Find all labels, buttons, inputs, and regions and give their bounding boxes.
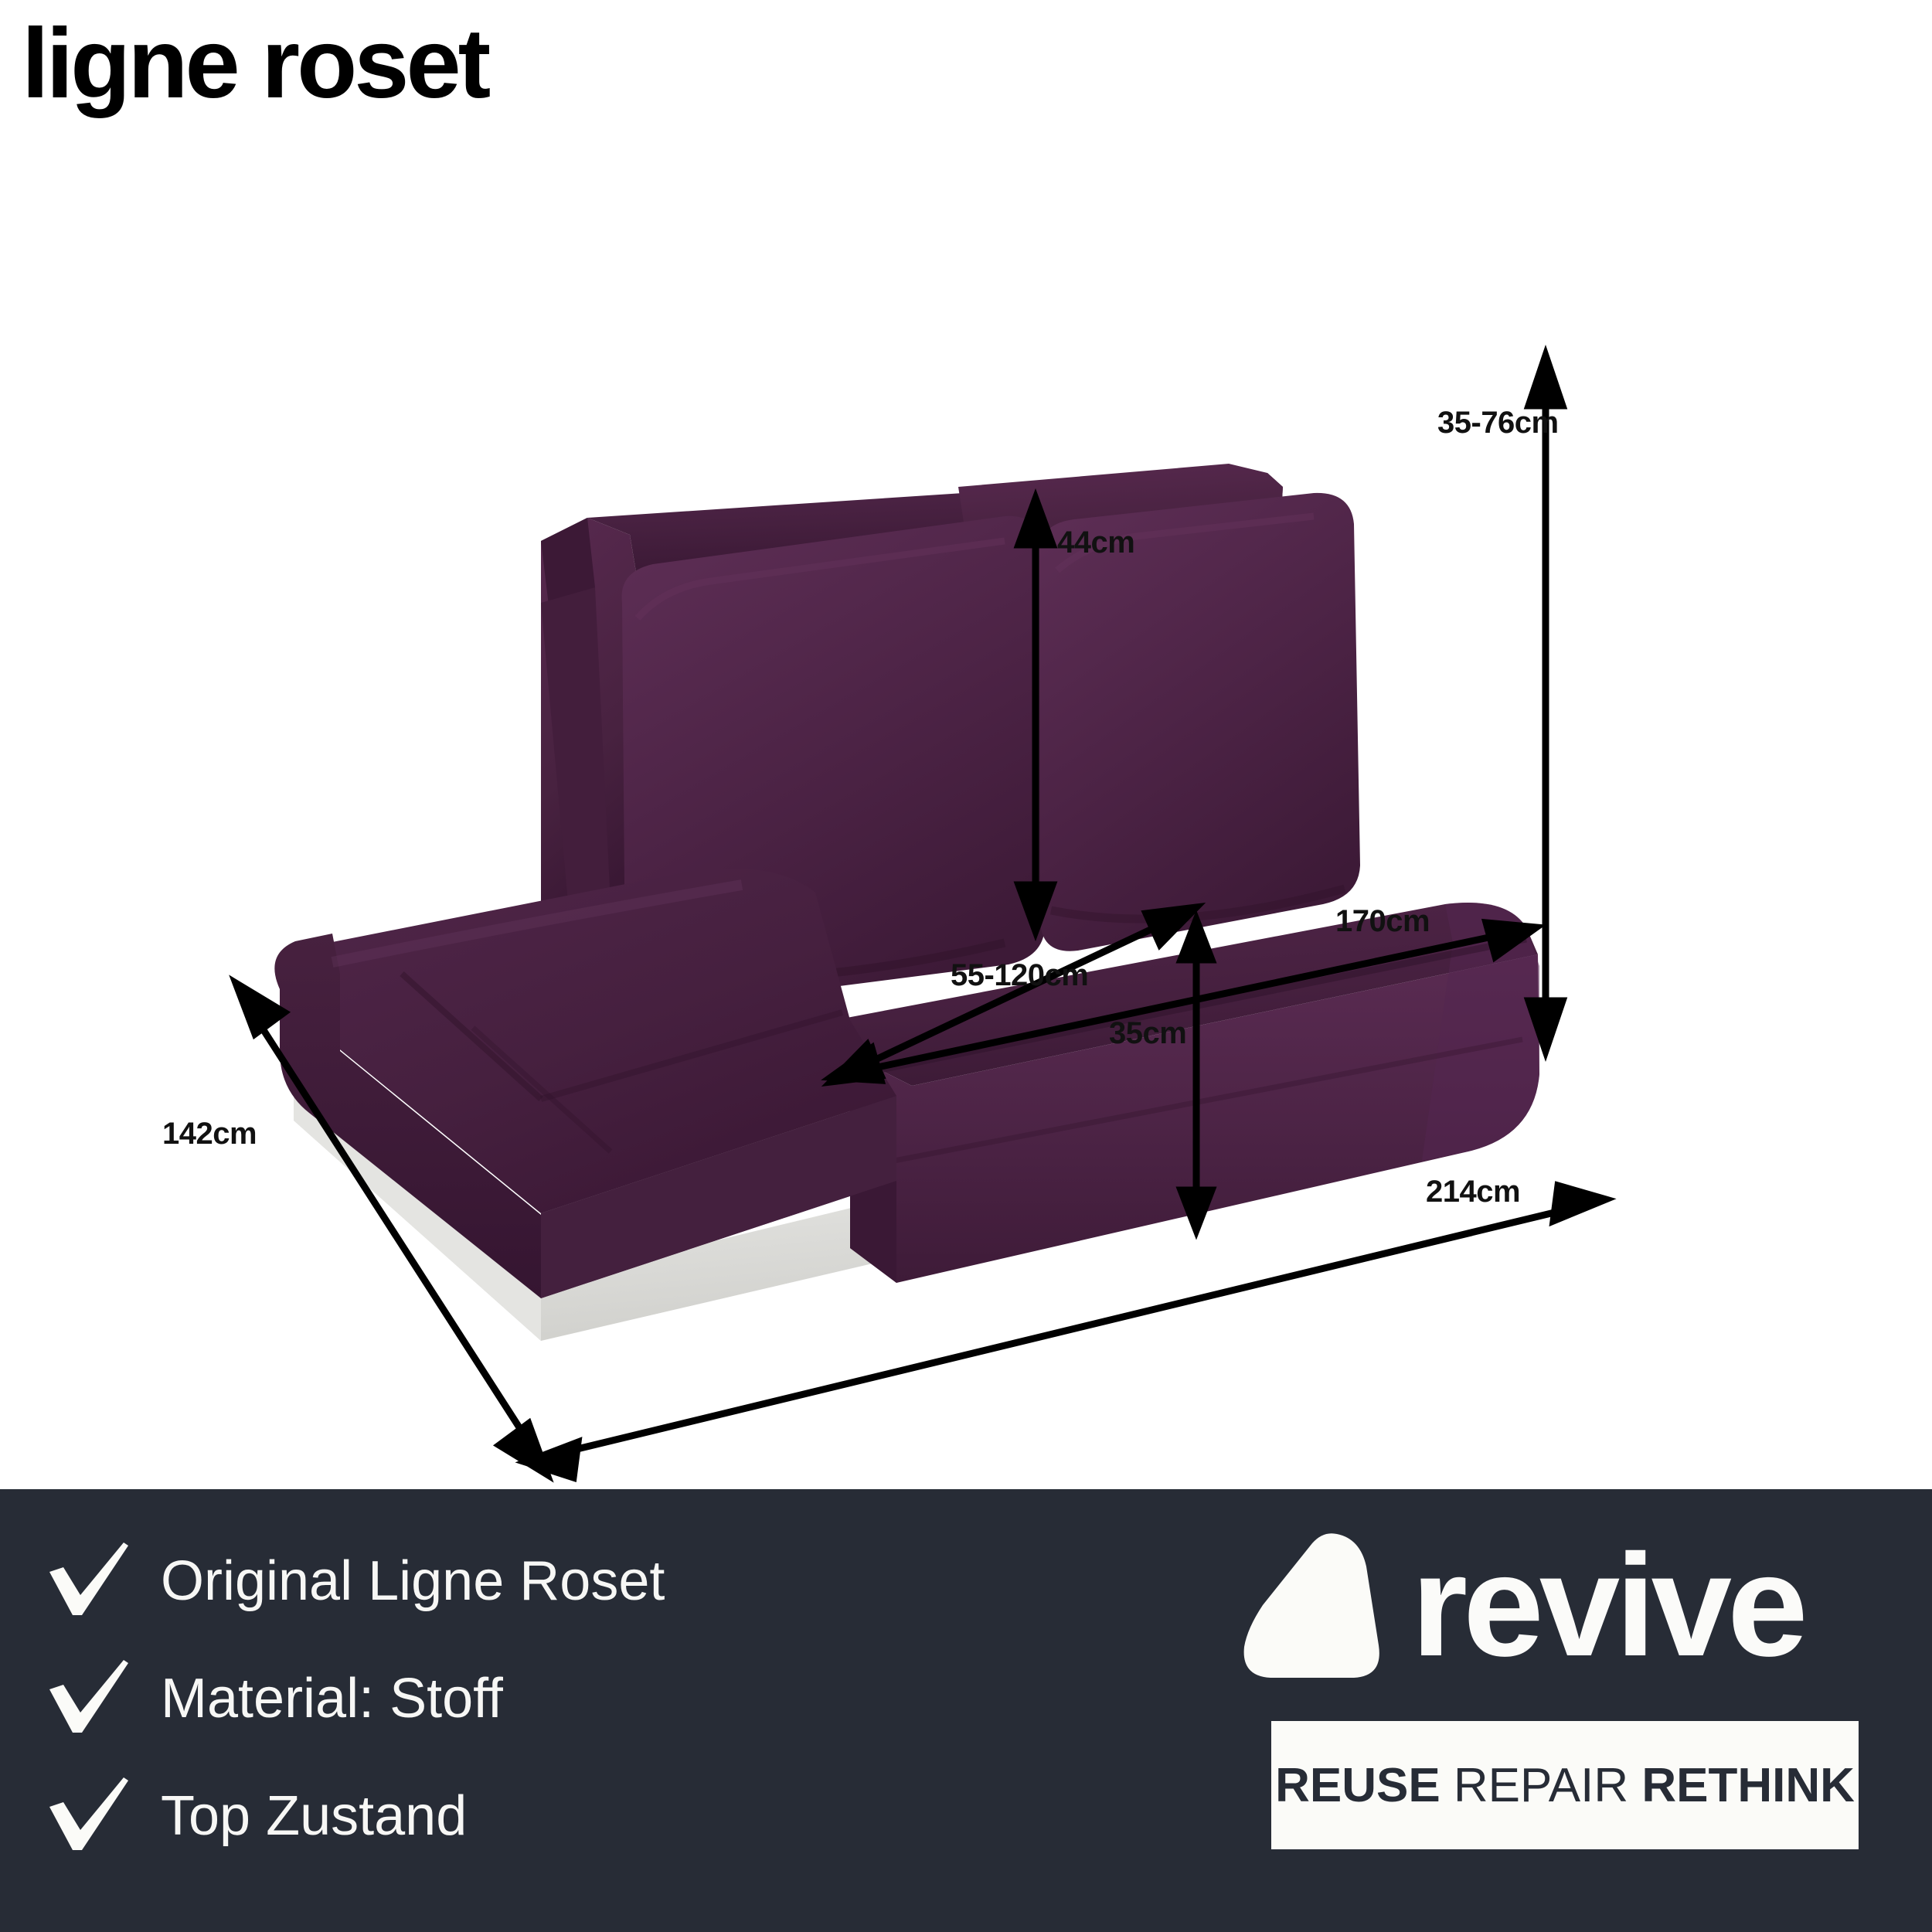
dim-label-170cm: 170cm [1335, 904, 1430, 939]
feature-row: Material: Stoff [46, 1644, 665, 1753]
check-icon [46, 1658, 131, 1739]
check-icon [46, 1776, 131, 1856]
tagline-word-reuse: REUSE [1275, 1759, 1440, 1812]
seller-wordmark: revive [1411, 1533, 1844, 1688]
dim-label-142cm: 142cm [162, 1117, 257, 1151]
brand-logo: ligne roset [22, 11, 764, 119]
tagline-word-rethink: RETHINK [1641, 1759, 1855, 1812]
dim-label-55-120cm: 55-120cm [951, 958, 1088, 993]
seller-logo: revive REUSE REPAIR RETHINK [1236, 1522, 1878, 1893]
feature-row: Top Zustand [46, 1761, 665, 1871]
brand-logo-text: ligne roset [22, 11, 491, 119]
seller-logo-top: revive [1236, 1522, 1878, 1699]
feature-list: Original Ligne Roset Material: Stoff Top… [46, 1526, 665, 1871]
tagline-word-repair: REPAIR [1454, 1759, 1628, 1812]
tagline-bar: REUSE REPAIR RETHINK [1271, 1721, 1859, 1849]
back-cushion-right [1039, 493, 1360, 951]
product-image: 44cm 55-120cm 170cm 35cm 35-76cm 142cm 2… [0, 124, 1932, 1489]
tagline-text: REUSE REPAIR RETHINK [1275, 1758, 1855, 1813]
feature-label: Top Zustand [161, 1784, 467, 1848]
sofa-illustration [0, 124, 1932, 1489]
dim-label-44cm: 44cm [1057, 526, 1134, 560]
check-icon [46, 1541, 131, 1621]
feature-label: Material: Stoff [161, 1667, 503, 1730]
feature-label: Original Ligne Roset [161, 1549, 665, 1613]
dim-label-214cm: 214cm [1426, 1175, 1520, 1209]
feature-row: Original Ligne Roset [46, 1526, 665, 1636]
dim-label-35-76cm: 35-76cm [1437, 406, 1559, 440]
leaf-icon [1236, 1529, 1391, 1692]
seller-wordmark-text: revive [1411, 1533, 1804, 1686]
dim-label-35cm: 35cm [1109, 1016, 1186, 1051]
footer-bar: Original Ligne Roset Material: Stoff Top… [0, 1489, 1932, 1932]
